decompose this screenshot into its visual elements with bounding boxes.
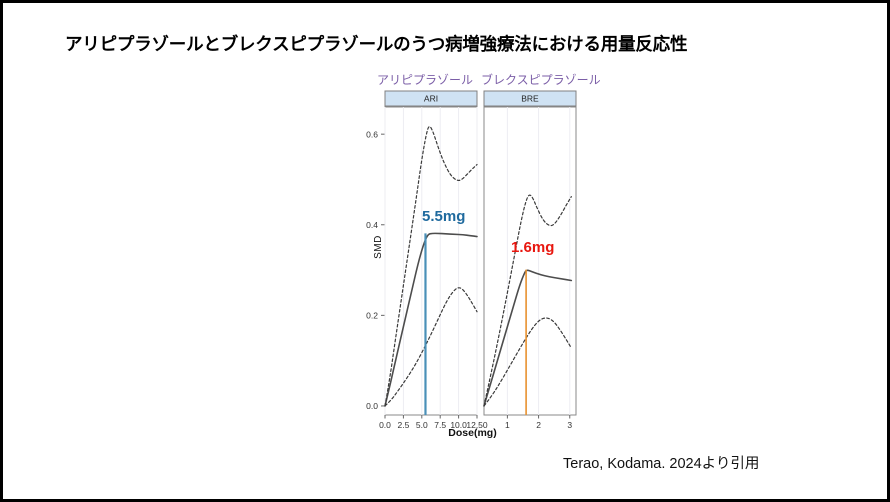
x-tick-label: 1 bbox=[505, 420, 510, 429]
panel-background-ari bbox=[385, 107, 477, 415]
y-tick-label: 0.0 bbox=[366, 401, 378, 411]
x-tick-label: 0.0 bbox=[379, 420, 391, 429]
group-caption-ari: アリピプラゾール bbox=[377, 71, 473, 88]
page-title: アリピプラゾールとブレクスピプラゾールのうつ病増強療法における用量反応性 bbox=[65, 31, 855, 56]
panel-header-label-bre: BRE bbox=[521, 94, 539, 104]
group-caption-bre: ブレクスピプラゾール bbox=[481, 71, 601, 88]
dose-response-chart: SMD Dose(mg) 0.00.20.40.6ARI0.02.55.07.5… bbox=[355, 89, 590, 441]
ari-optimal-dose-label: 5.5mg bbox=[422, 208, 465, 225]
slide-canvas: アリピプラゾールとブレクスピプラゾールのうつ病増強療法における用量反応性 アリピ… bbox=[3, 3, 887, 499]
x-tick-label: 2 bbox=[536, 420, 541, 429]
x-tick-label: 12.50 bbox=[466, 420, 488, 429]
slide-frame: アリピプラゾールとブレクスピプラゾールのうつ病増強療法における用量反応性 アリピ… bbox=[0, 0, 890, 502]
x-tick-label: 3 bbox=[567, 420, 572, 429]
x-tick-label: 7.5 bbox=[434, 420, 446, 429]
bre-optimal-dose-label: 1.6mg bbox=[511, 239, 554, 256]
x-tick-label: 5.0 bbox=[416, 420, 428, 429]
y-tick-label: 0.4 bbox=[366, 220, 378, 230]
plot-area: 0.00.20.40.6ARI0.02.55.07.510.012.50BRE1… bbox=[355, 89, 590, 429]
panel-background-bre bbox=[484, 107, 576, 415]
citation-text: Terao, Kodama. 2024より引用 bbox=[563, 452, 759, 473]
x-tick-label: 2.5 bbox=[397, 420, 409, 429]
x-tick-label: 10.0 bbox=[450, 420, 467, 429]
y-tick-label: 0.6 bbox=[366, 129, 378, 139]
panel-header-label-ari: ARI bbox=[424, 94, 438, 104]
y-tick-label: 0.2 bbox=[366, 311, 378, 321]
